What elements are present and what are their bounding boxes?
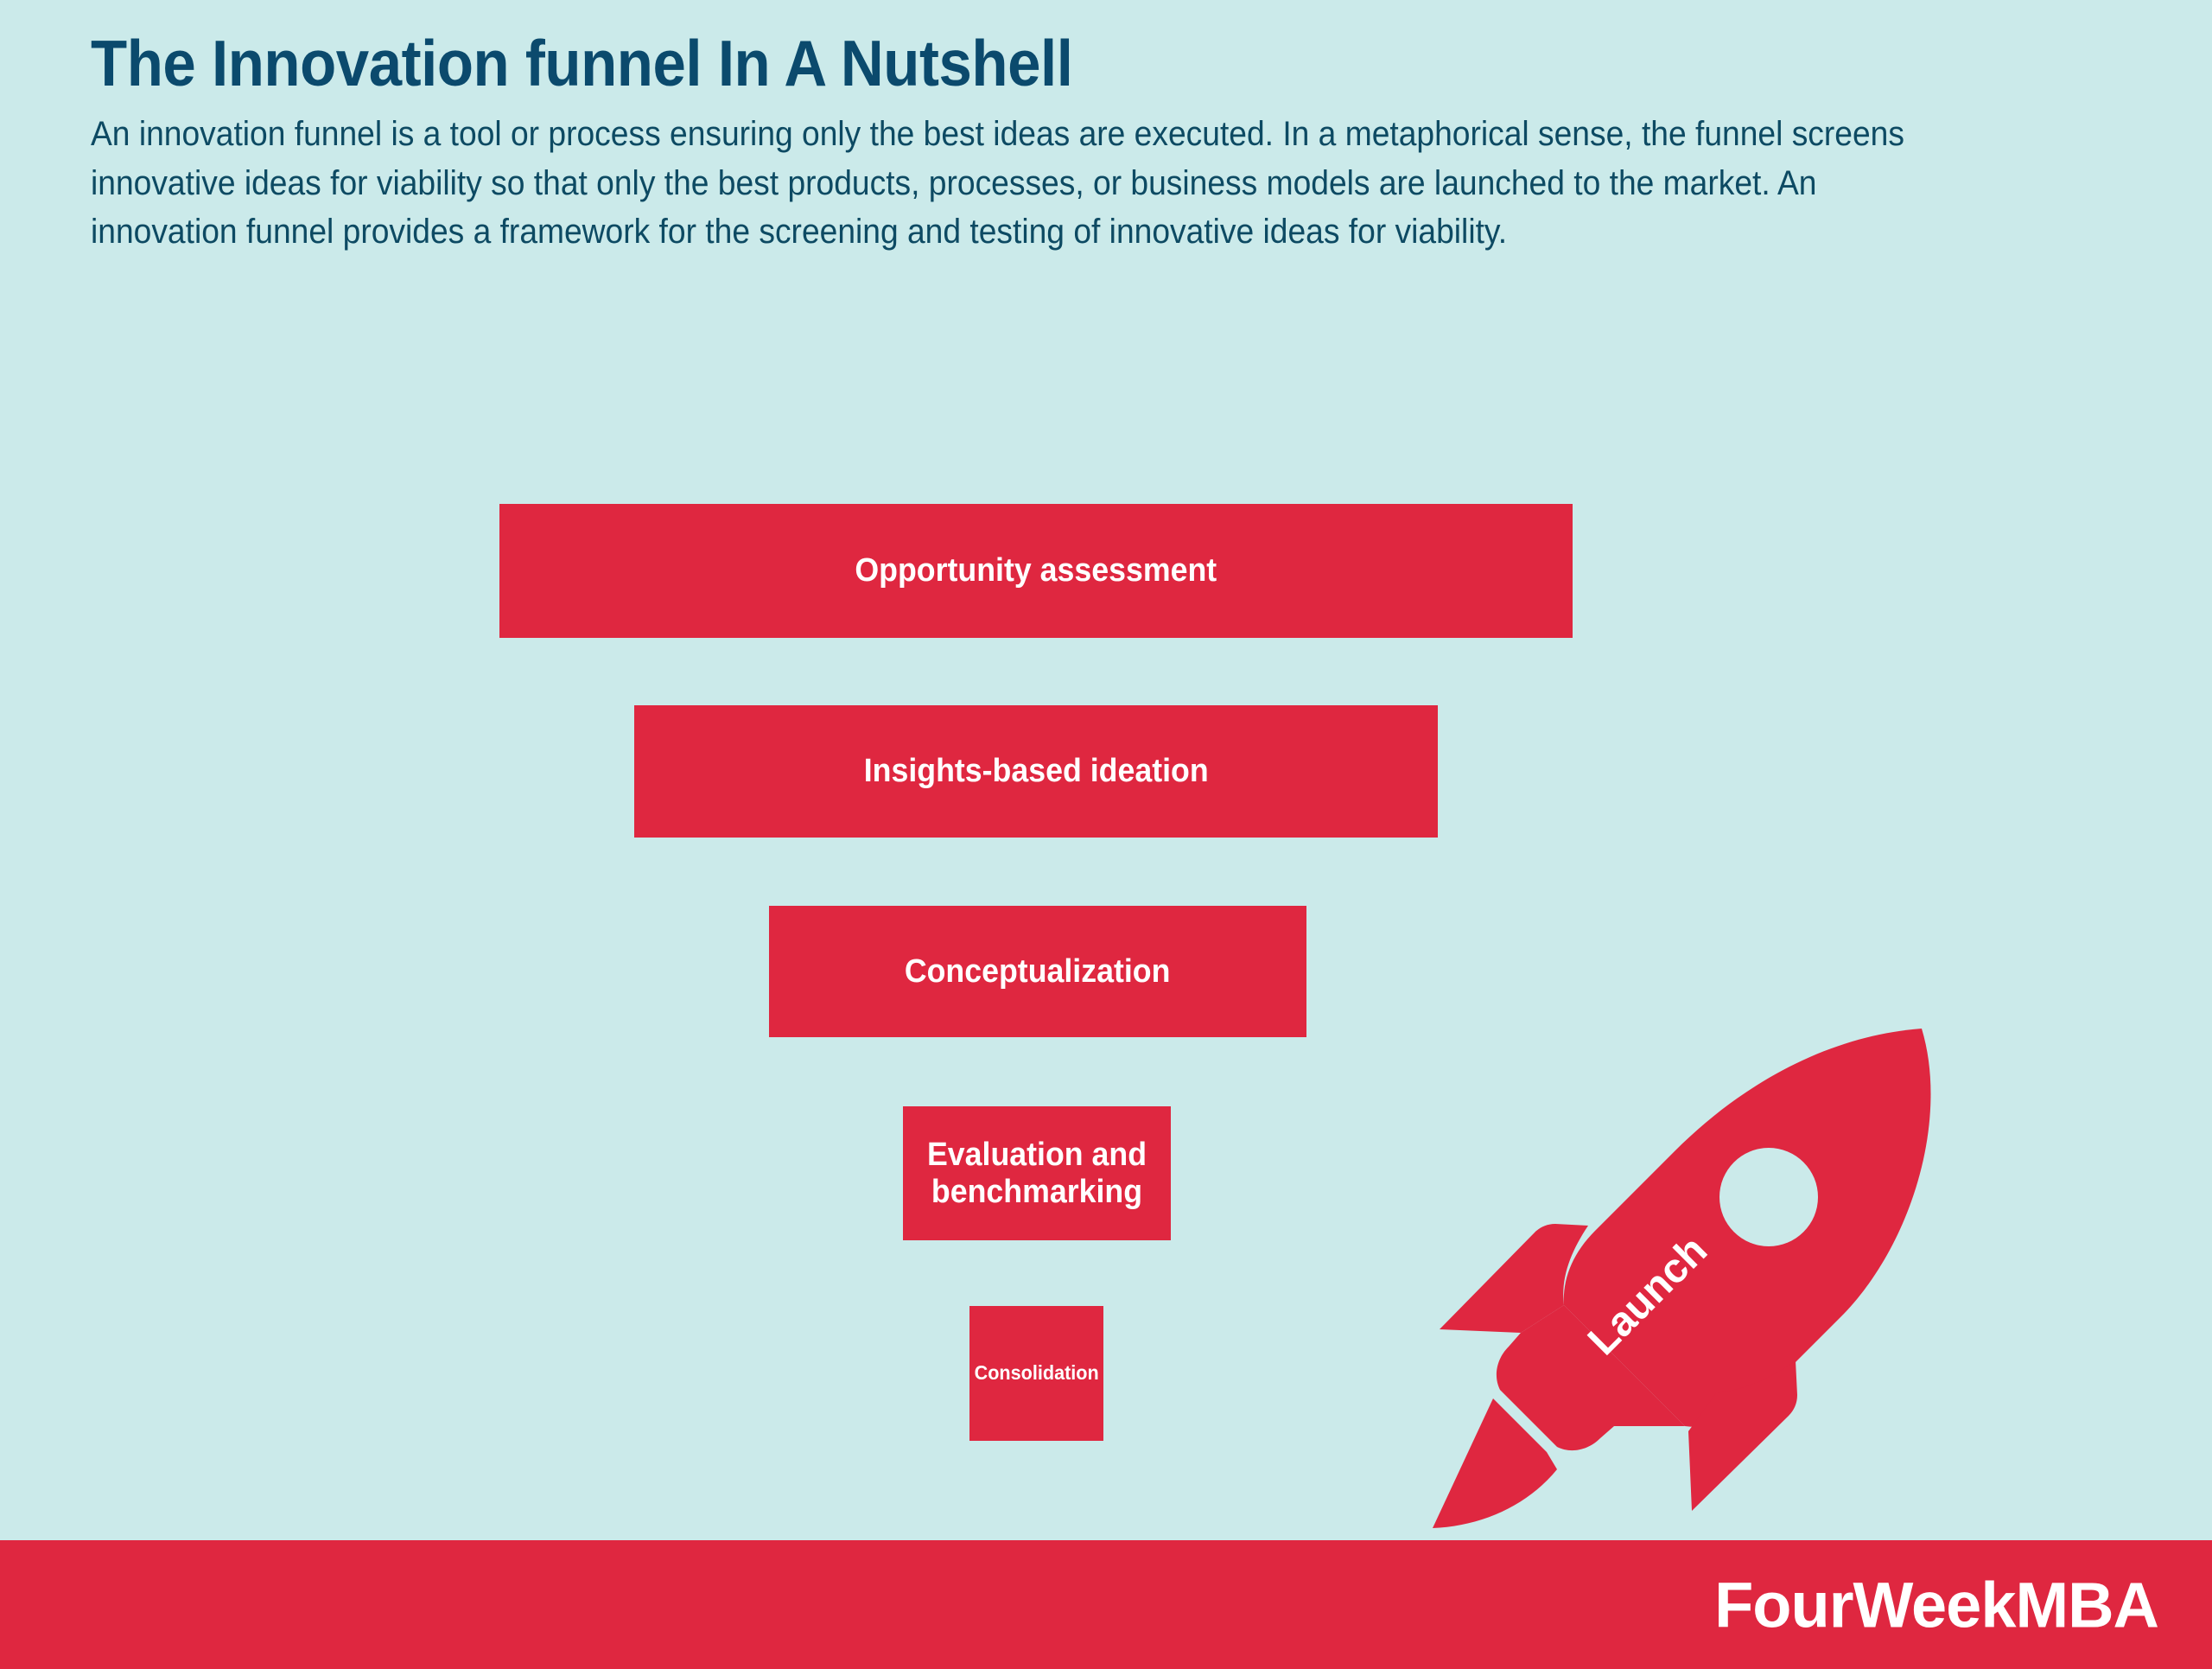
funnel-stage-label: Insights-based ideation [849, 753, 1224, 790]
funnel-stage-label: Conceptualization [890, 953, 1185, 991]
funnel-stage-label: Opportunity assessment [841, 552, 1232, 589]
funnel-stage-label: Evaluation and benchmarking [911, 1137, 1162, 1210]
funnel-stage-label: Consolidation [960, 1362, 1114, 1385]
header: The Innovation funnel In A Nutshell An i… [91, 29, 2069, 257]
funnel-stage-insights-based-ideation[interactable]: Insights-based ideation [634, 705, 1438, 838]
page-description: An innovation funnel is a tool or proces… [91, 110, 1939, 257]
brand-logo: FourWeekMBA [1714, 1568, 2158, 1641]
footer-bar: FourWeekMBA [0, 1540, 2212, 1669]
funnel-stage-opportunity-assessment[interactable]: Opportunity assessment [499, 504, 1573, 638]
page-title: The Innovation funnel In A Nutshell [91, 29, 1911, 98]
rocket-icon: Launch [1426, 1020, 1961, 1547]
funnel-stage-evaluation-and-benchmarking[interactable]: Evaluation and benchmarking [903, 1106, 1171, 1240]
rocket-illustration: Launch [1426, 1020, 1961, 1547]
funnel-stage-consolidation[interactable]: Consolidation [969, 1306, 1103, 1441]
rocket-window-icon [1719, 1148, 1818, 1246]
funnel-stage-conceptualization[interactable]: Conceptualization [769, 906, 1306, 1037]
infographic-canvas: The Innovation funnel In A Nutshell An i… [0, 0, 2212, 1669]
